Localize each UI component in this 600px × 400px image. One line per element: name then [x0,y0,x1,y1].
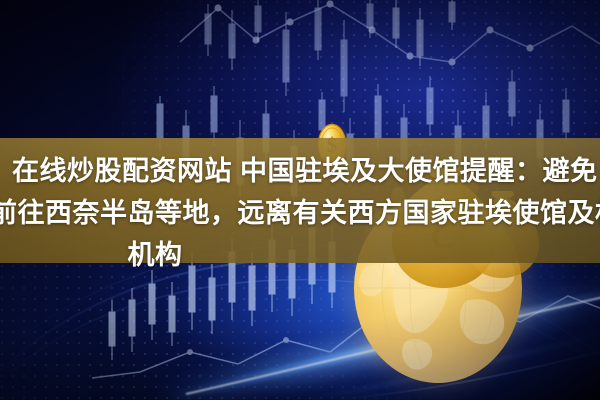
banner-headline: 在线炒股配资网站 中国驻埃及大使馆提醒：避免 前往西奈半岛等地，远离有关西方国家… [0,150,600,276]
banner-image: $ 在线炒股配资网站 中国驻埃及大使馆提醒：避免 前往西奈半岛等地，远离有关西方… [0,0,600,400]
headline-line-2: 前往西奈半岛等地，远离有关西方国家驻埃使馆及机构 [0,192,600,234]
headline-line-3: 机构 [0,234,600,276]
headline-line-1: 在线炒股配资网站 中国驻埃及大使馆提醒：避免 [0,150,600,192]
